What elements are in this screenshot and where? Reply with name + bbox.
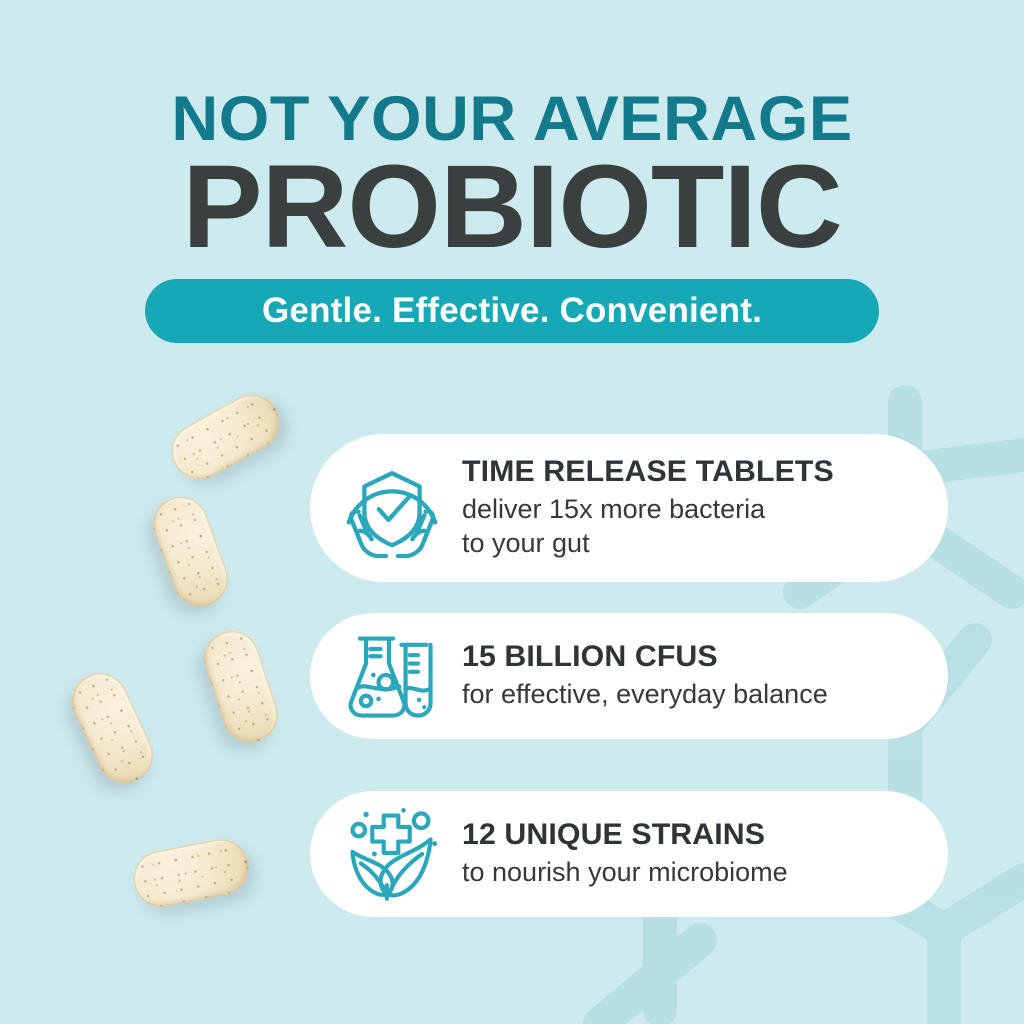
feature-card-2-subtitle: for effective, everyday balance xyxy=(462,677,920,711)
flask-test-tube-icon xyxy=(332,624,450,728)
page-title: PROBIOTIC xyxy=(0,148,1024,266)
tablet-2 xyxy=(145,489,235,614)
feature-card-3-subtitle-line-1: to nourish your microbiome xyxy=(462,855,920,889)
probiotic-infographic-poster: NOT YOUR AVERAGE PROBIOTIC Gentle. Effec… xyxy=(0,0,1024,1024)
feature-card-1-subtitle-line-2: to your gut xyxy=(462,526,920,560)
tagline-text: Gentle. Effective. Convenient. xyxy=(262,293,762,328)
feature-card-1-body: TIME RELEASE TABLETS deliver 15x more ba… xyxy=(452,456,920,559)
feature-card-1-subtitle-line-1: deliver 15x more bacteria xyxy=(462,492,920,526)
tagline-banner: Gentle. Effective. Convenient. xyxy=(145,279,879,343)
tablet-1 xyxy=(162,385,290,490)
feature-card-3-subtitle: to nourish your microbiome xyxy=(462,855,920,889)
feature-card-cfus: 15 BILLION CFUS for effective, everyday … xyxy=(310,613,948,739)
feature-card-2-title: 15 BILLION CFUS xyxy=(462,641,925,673)
feature-card-2-body: 15 BILLION CFUS for effective, everyday … xyxy=(450,641,920,710)
feature-card-2-subtitle-line-1: for effective, everyday balance xyxy=(462,677,920,711)
feature-card-3-title: 12 UNIQUE STRAINS xyxy=(462,819,925,851)
feature-card-1-subtitle: deliver 15x more bacteria to your gut xyxy=(462,492,920,560)
feature-card-3-body: 12 UNIQUE STRAINS to nourish your microb… xyxy=(450,819,920,888)
feature-card-strains: 12 UNIQUE STRAINS to nourish your microb… xyxy=(310,791,948,917)
shield-check-in-hands-icon xyxy=(332,448,452,568)
feature-card-time-release: TIME RELEASE TABLETS deliver 15x more ba… xyxy=(310,434,948,582)
feature-card-1-title: TIME RELEASE TABLETS xyxy=(462,456,925,488)
tablet-4 xyxy=(63,664,162,792)
tablet-5 xyxy=(129,834,254,911)
tablet-3 xyxy=(197,624,285,749)
leaves-medical-cross-icon xyxy=(332,802,450,906)
